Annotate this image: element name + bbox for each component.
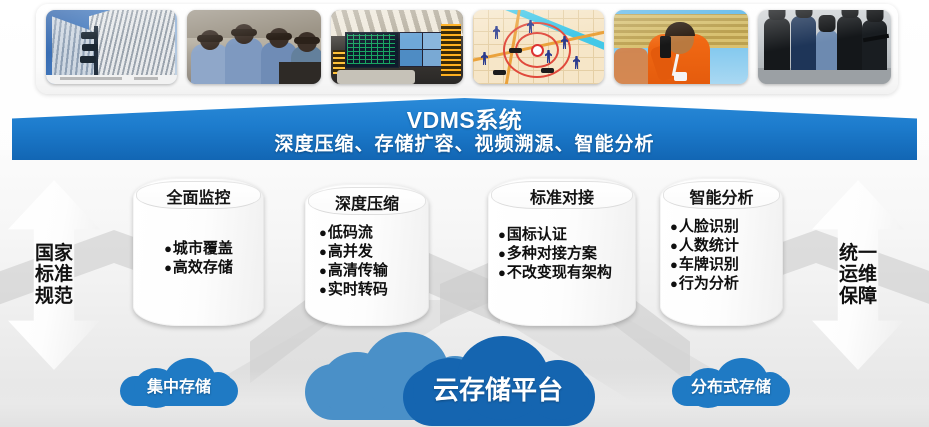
bullet-icon: ● bbox=[164, 241, 172, 256]
bullet-icon: ● bbox=[498, 227, 506, 242]
photo-tactical-team bbox=[758, 10, 891, 84]
photo-sheen bbox=[331, 10, 463, 84]
card-zhineng-fenxi[interactable]: 智能分析 ●人脸识别 ●人数统计 ●车牌识别 ●行为分析 bbox=[660, 178, 783, 326]
photo-sheen bbox=[758, 10, 891, 84]
card-item-label: 国标认证 bbox=[507, 226, 567, 243]
photo-sheen bbox=[187, 10, 321, 84]
card-biaozhun-duijie[interactable]: 标准对接 ●国标认证 ●多种对接方案 ●不改变现有架构 bbox=[488, 178, 636, 326]
card-title: 全面监控 bbox=[133, 184, 264, 208]
card-item: ●人脸识别 bbox=[670, 218, 779, 237]
card-item: ●行为分析 bbox=[670, 275, 779, 294]
cloud-label: 分布式存储 bbox=[672, 373, 790, 397]
card-item-label: 多种对接方案 bbox=[507, 245, 597, 262]
card-item-list: ●国标认证 ●多种对接方案 ●不改变现有架构 bbox=[488, 226, 636, 283]
card-title: 深度压缩 bbox=[305, 190, 429, 214]
bullet-icon: ● bbox=[319, 225, 327, 240]
card-item: ●多种对接方案 bbox=[498, 245, 632, 264]
card-item: ●城市覆盖 bbox=[137, 240, 260, 259]
bullet-icon: ● bbox=[670, 238, 678, 253]
bullet-icon: ● bbox=[670, 276, 678, 291]
card-item-label: 行为分析 bbox=[679, 275, 739, 292]
card-item: ●不改变现有架构 bbox=[498, 264, 632, 283]
photo-surveillance-building bbox=[46, 10, 177, 84]
cloud-distributed-storage[interactable]: 分布式存储 bbox=[672, 358, 790, 410]
card-item-label: 城市覆盖 bbox=[173, 240, 233, 257]
card-item: ●高清传输 bbox=[319, 262, 425, 281]
cloud-centralized-storage[interactable]: 集中存储 bbox=[120, 358, 238, 410]
card-item-label: 人数统计 bbox=[679, 237, 739, 254]
card-item-label: 人脸识别 bbox=[679, 218, 739, 235]
photo-sheen bbox=[46, 10, 177, 84]
bullet-icon: ● bbox=[319, 282, 327, 297]
left-arrow-label: 国家 标准 规范 bbox=[35, 243, 73, 307]
photo-strip bbox=[46, 10, 889, 88]
bullet-icon: ● bbox=[498, 246, 506, 261]
card-item-label: 低码流 bbox=[328, 224, 373, 241]
bullet-icon: ● bbox=[319, 244, 327, 259]
card-item-label: 实时转码 bbox=[328, 281, 388, 298]
cloud-label: 云存储平台 bbox=[401, 370, 595, 407]
banner-subtitle: 深度压缩、存储扩容、视频溯源、智能分析 bbox=[274, 134, 654, 157]
bullet-icon: ● bbox=[498, 265, 506, 280]
card-item-list: ●低码流 ●高并发 ●高清传输 ●实时转码 bbox=[305, 224, 429, 300]
bullet-icon: ● bbox=[164, 260, 172, 275]
card-item-label: 高清传输 bbox=[328, 262, 388, 279]
card-item: ●国标认证 bbox=[498, 226, 632, 245]
card-item-label: 车牌识别 bbox=[679, 256, 739, 273]
card-item-label: 高效存储 bbox=[173, 259, 233, 276]
card-item-label: 高并发 bbox=[328, 243, 373, 260]
card-item: ●高并发 bbox=[319, 243, 425, 262]
card-title: 智能分析 bbox=[660, 184, 783, 208]
bullet-icon: ● bbox=[670, 219, 678, 234]
card-title: 标准对接 bbox=[488, 184, 636, 208]
vdms-banner-text: VDMS系统 深度压缩、存储扩容、视频溯源、智能分析 bbox=[12, 98, 917, 160]
diagram-canvas: VDMS系统 深度压缩、存储扩容、视频溯源、智能分析 国家 标准 规范 统一 运… bbox=[0, 0, 929, 427]
bullet-icon: ● bbox=[670, 257, 678, 272]
right-arrow-label: 统一 运维 保障 bbox=[839, 243, 877, 307]
card-item: ●车牌识别 bbox=[670, 256, 779, 275]
cloud-label: 集中存储 bbox=[120, 373, 238, 397]
card-item-label: 不改变现有架构 bbox=[507, 264, 612, 281]
photo-sheen bbox=[473, 10, 604, 84]
photo-police-operators bbox=[187, 10, 321, 84]
card-item: ●人数统计 bbox=[670, 237, 779, 256]
cloud-storage-platform[interactable]: 云存储平台 bbox=[305, 330, 595, 426]
bullet-icon: ● bbox=[319, 263, 327, 278]
card-item-list: ●城市覆盖 ●高效存储 bbox=[133, 240, 264, 278]
banner-title: VDMS系统 bbox=[407, 108, 522, 132]
card-shendu-yasuo[interactable]: 深度压缩 ●低码流 ●高并发 ●高清传输 ●实时转码 bbox=[305, 184, 429, 326]
photo-video-wall bbox=[331, 10, 463, 84]
card-item: ●实时转码 bbox=[319, 281, 425, 300]
card-item-list: ●人脸识别 ●人数统计 ●车牌识别 ●行为分析 bbox=[660, 218, 783, 294]
card-quanmian-jiankong[interactable]: 全面监控 ●城市覆盖 ●高效存储 bbox=[133, 178, 264, 326]
card-item: ●低码流 bbox=[319, 224, 425, 243]
card-item: ●高效存储 bbox=[137, 259, 260, 278]
photo-radio-staff bbox=[614, 10, 748, 84]
photo-gis-map bbox=[473, 10, 604, 84]
photo-sheen bbox=[614, 10, 748, 84]
